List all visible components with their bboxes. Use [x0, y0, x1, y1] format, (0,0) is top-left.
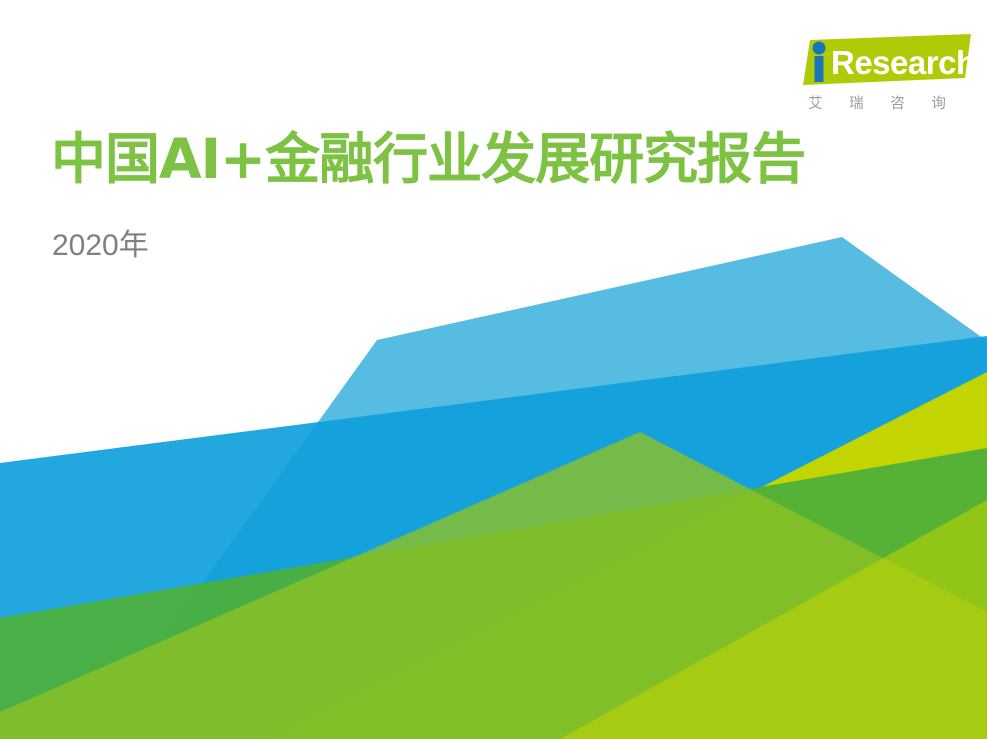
logo-parallelogram-icon: Research — [779, 34, 975, 89]
logo-wordmark-text: Research — [831, 44, 975, 81]
page-title: 中国AI+金融行业发展研究报告 — [51, 128, 805, 191]
logo-i-dot-icon — [813, 42, 826, 55]
logo-mark: Research — [779, 34, 975, 89]
logo-chinese-name: 艾 瑞 咨 询 — [779, 92, 975, 113]
cover-slide: Research 艾 瑞 咨 询 中国AI+金融行业发展研究报告 2020年 — [0, 0, 987, 739]
page-subtitle-year: 2020年 — [52, 220, 149, 264]
iresearch-logo: Research 艾 瑞 咨 询 — [779, 34, 975, 118]
logo-i-stem-icon — [815, 56, 824, 82]
